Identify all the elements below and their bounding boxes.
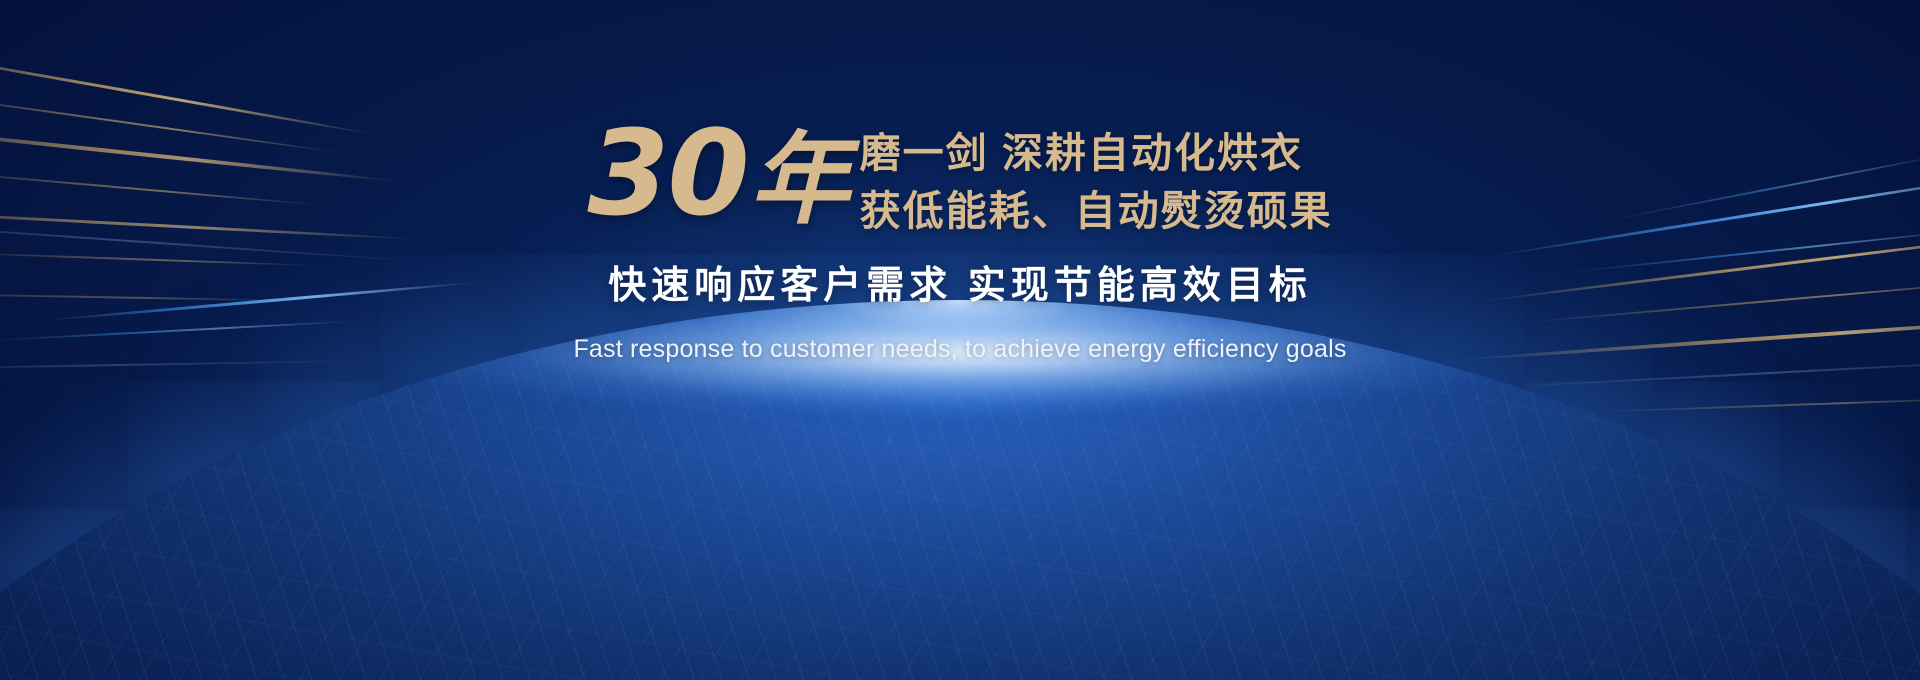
- years-unit: 年: [750, 121, 850, 238]
- white-tagline: 快速响应客户需求 实现节能高效目标: [0, 254, 1920, 309]
- gold-headline-line-1: 磨一剑 深耕自动化烘衣: [860, 124, 1333, 182]
- years-badge: 30年: [587, 116, 849, 232]
- english-subtitle: Fast response to customer needs, to achi…: [0, 335, 1920, 364]
- banner-text-block: 30年 磨一剑 深耕自动化烘衣 获低能耗、自动熨烫硕果 快速响应客户需求 实现节…: [0, 110, 1920, 364]
- years-number: 30: [587, 104, 747, 242]
- headline-row: 30年 磨一剑 深耕自动化烘衣 获低能耗、自动熨烫硕果: [0, 110, 1920, 240]
- promo-banner: 30年 磨一剑 深耕自动化烘衣 获低能耗、自动熨烫硕果 快速响应客户需求 实现节…: [0, 0, 1920, 680]
- gold-headline-line-2: 获低能耗、自动熨烫硕果: [860, 182, 1333, 240]
- gold-headline-group: 磨一剑 深耕自动化烘衣 获低能耗、自动熨烫硕果: [860, 124, 1333, 240]
